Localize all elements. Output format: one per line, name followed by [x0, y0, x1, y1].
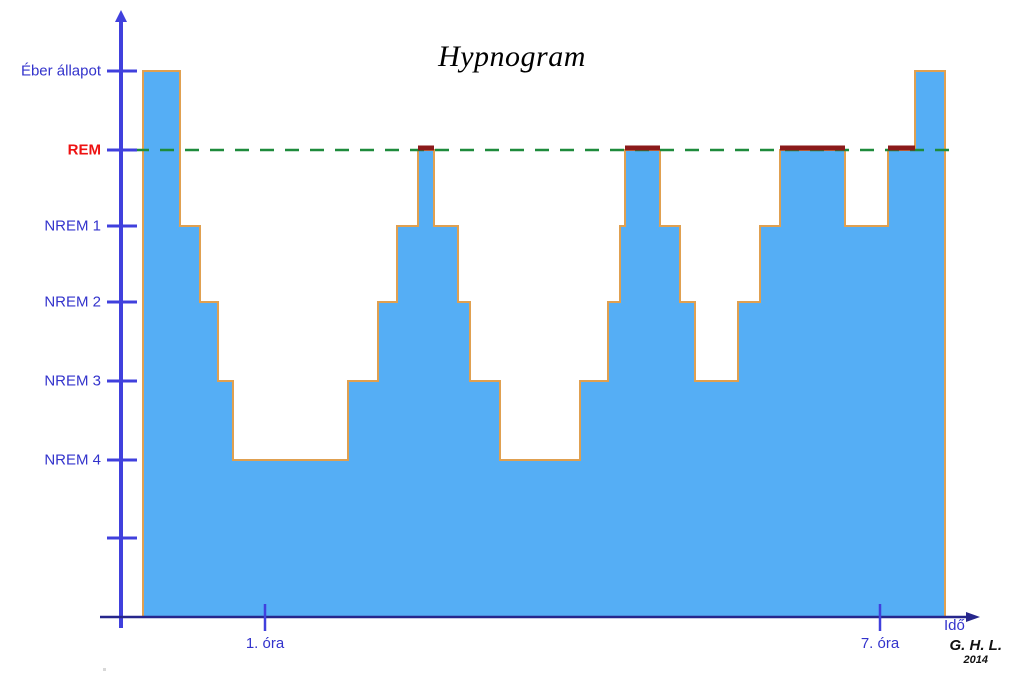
- hypnogram-chart: Hypnogram Éber állapotREMNREM 1NREM 2NRE…: [0, 0, 1024, 693]
- signature-name: G. H. L.: [950, 637, 1003, 654]
- hypnogram-plot-canvas: [0, 0, 1024, 693]
- sleep-stage-area: [143, 71, 945, 617]
- x-axis-title: Idő: [944, 617, 965, 634]
- author-signature: G. H. L. 2014: [950, 637, 1003, 667]
- y-axis-label-nrem-1: NREM 1: [44, 218, 101, 235]
- signature-year: 2014: [950, 654, 1003, 667]
- x-axis-label-7-óra: 7. óra: [861, 635, 899, 652]
- page-title: Hypnogram: [0, 40, 1024, 74]
- x-axis-label-1-óra: 1. óra: [246, 635, 284, 652]
- y-axis-label-nrem-2: NREM 2: [44, 294, 101, 311]
- y-axis-label-nrem-4: NREM 4: [44, 452, 101, 469]
- corner-artifact: [103, 668, 106, 671]
- y-axis-label-ber-llapot: Éber állapot: [21, 63, 101, 80]
- y-axis-label-rem: REM: [68, 142, 101, 159]
- y-axis-label-nrem-3: NREM 3: [44, 373, 101, 390]
